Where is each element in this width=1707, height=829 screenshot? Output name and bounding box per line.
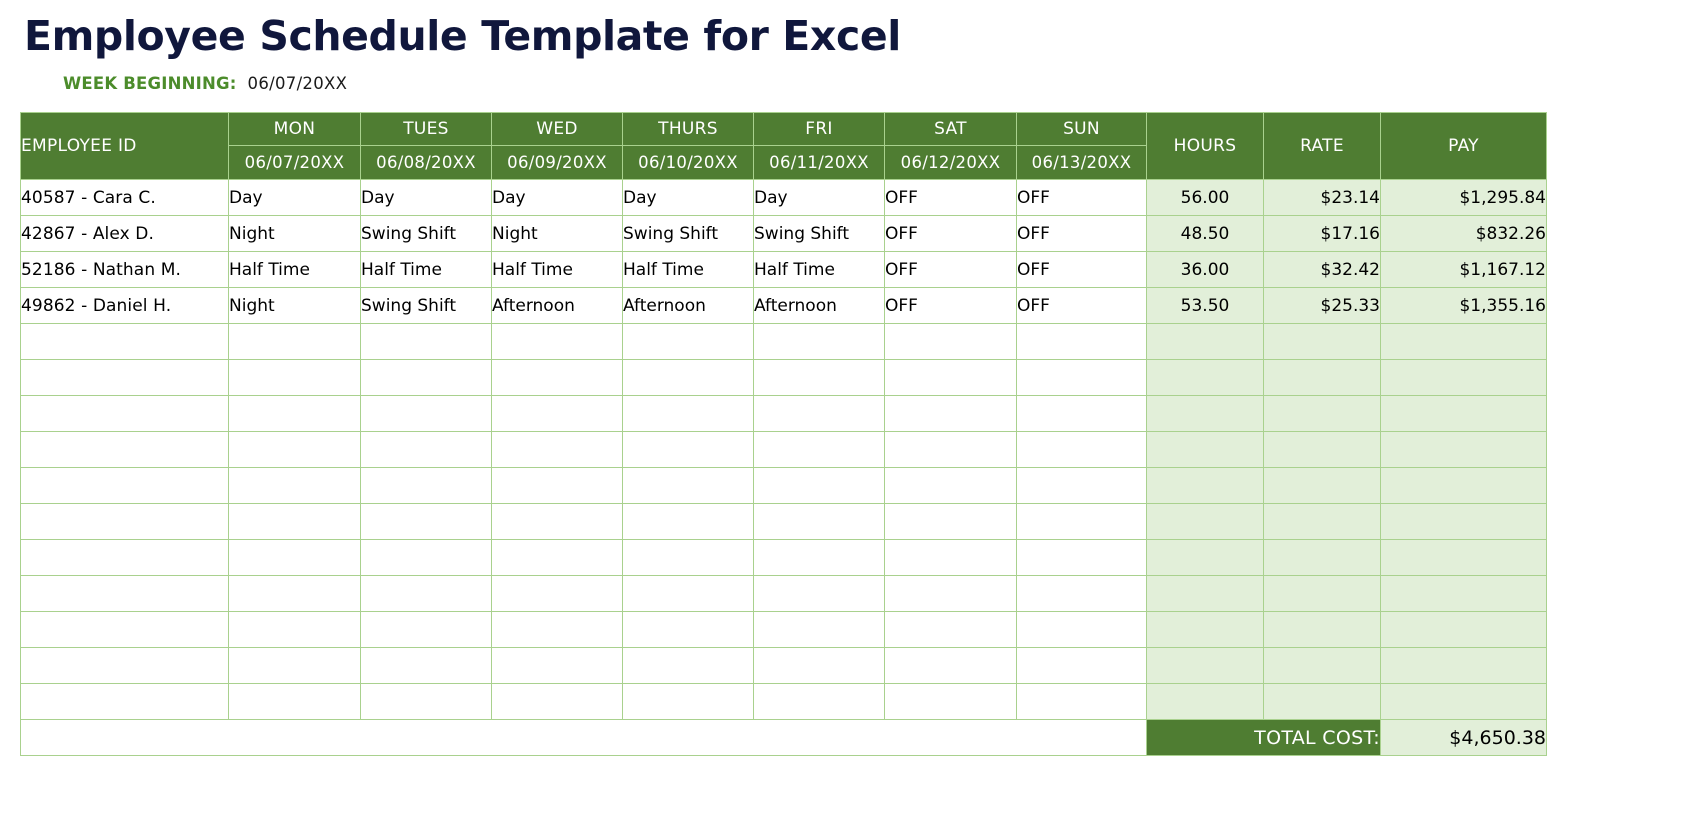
cell-pay: $1,167.12 bbox=[1381, 252, 1547, 288]
cell-employee-id[interactable]: 42867 - Alex D. bbox=[21, 216, 229, 252]
cell-hours: 36.00 bbox=[1147, 252, 1264, 288]
cell-hours bbox=[1147, 360, 1264, 396]
cell-shift[interactable] bbox=[754, 684, 885, 720]
col-header-date-sun: 06/13/20XX bbox=[1017, 146, 1147, 180]
cell-shift[interactable] bbox=[754, 576, 885, 612]
cell-shift[interactable] bbox=[492, 612, 623, 648]
cell-employee-id[interactable] bbox=[21, 360, 229, 396]
cell-shift[interactable]: Swing Shift bbox=[361, 288, 492, 324]
cell-shift[interactable] bbox=[1017, 468, 1147, 504]
cell-shift[interactable]: Night bbox=[229, 216, 361, 252]
cell-shift[interactable] bbox=[885, 612, 1017, 648]
cell-pay bbox=[1381, 468, 1547, 504]
cell-hours bbox=[1147, 684, 1264, 720]
cell-shift[interactable] bbox=[361, 648, 492, 684]
cell-shift[interactable] bbox=[1017, 324, 1147, 360]
cell-pay bbox=[1381, 576, 1547, 612]
cell-hours bbox=[1147, 648, 1264, 684]
cell-rate[interactable]: $17.16 bbox=[1264, 216, 1381, 252]
cell-rate[interactable]: $32.42 bbox=[1264, 252, 1381, 288]
cell-shift[interactable] bbox=[623, 504, 754, 540]
cell-shift[interactable] bbox=[1017, 612, 1147, 648]
table-row: 49862 - Daniel H.NightSwing ShiftAfterno… bbox=[21, 288, 1547, 324]
cell-shift[interactable]: Day bbox=[229, 180, 361, 216]
cell-shift[interactable] bbox=[885, 468, 1017, 504]
cell-shift[interactable] bbox=[1017, 504, 1147, 540]
cell-shift[interactable] bbox=[229, 612, 361, 648]
cell-shift[interactable] bbox=[229, 576, 361, 612]
col-header-hours: HOURS bbox=[1147, 113, 1264, 180]
cell-shift[interactable] bbox=[1017, 684, 1147, 720]
col-header-date-thurs: 06/10/20XX bbox=[623, 146, 754, 180]
cell-shift[interactable]: Swing Shift bbox=[623, 216, 754, 252]
cell-shift[interactable] bbox=[492, 576, 623, 612]
schedule-table: EMPLOYEE ID MON TUES WED THURS FRI SAT S… bbox=[20, 112, 1547, 756]
cell-shift[interactable] bbox=[229, 540, 361, 576]
cell-shift[interactable] bbox=[754, 396, 885, 432]
cell-shift[interactable] bbox=[754, 540, 885, 576]
cell-shift[interactable] bbox=[623, 396, 754, 432]
cell-shift[interactable] bbox=[885, 396, 1017, 432]
cell-rate[interactable] bbox=[1264, 648, 1381, 684]
col-header-employee-id: EMPLOYEE ID bbox=[21, 113, 229, 180]
cell-shift[interactable] bbox=[754, 324, 885, 360]
col-header-date-mon: 06/07/20XX bbox=[229, 146, 361, 180]
cell-shift[interactable] bbox=[885, 684, 1017, 720]
cell-hours bbox=[1147, 504, 1264, 540]
cell-employee-id[interactable] bbox=[21, 432, 229, 468]
table-row bbox=[21, 432, 1547, 468]
cell-shift[interactable] bbox=[623, 540, 754, 576]
cell-shift[interactable]: Swing Shift bbox=[754, 216, 885, 252]
cell-shift[interactable] bbox=[754, 468, 885, 504]
cell-rate[interactable]: $23.14 bbox=[1264, 180, 1381, 216]
table-row bbox=[21, 648, 1547, 684]
cell-shift[interactable] bbox=[361, 468, 492, 504]
cell-shift[interactable] bbox=[1017, 648, 1147, 684]
cell-shift[interactable]: Half Time bbox=[754, 252, 885, 288]
cell-hours: 53.50 bbox=[1147, 288, 1264, 324]
cell-shift[interactable] bbox=[492, 324, 623, 360]
cell-hours bbox=[1147, 432, 1264, 468]
table-row bbox=[21, 396, 1547, 432]
cell-shift[interactable]: OFF bbox=[1017, 216, 1147, 252]
col-header-date-fri: 06/11/20XX bbox=[754, 146, 885, 180]
cell-shift[interactable] bbox=[1017, 540, 1147, 576]
cell-rate[interactable] bbox=[1264, 504, 1381, 540]
col-header-day-tues: TUES bbox=[361, 113, 492, 146]
page-title: Employee Schedule Template for Excel bbox=[24, 12, 901, 60]
total-cost-row: TOTAL COST: $4,650.38 bbox=[21, 720, 1547, 756]
cell-shift[interactable] bbox=[1017, 396, 1147, 432]
cell-pay bbox=[1381, 324, 1547, 360]
cell-shift[interactable]: Half Time bbox=[229, 252, 361, 288]
cell-hours bbox=[1147, 576, 1264, 612]
cell-shift[interactable] bbox=[361, 324, 492, 360]
cell-shift[interactable] bbox=[361, 540, 492, 576]
cell-shift[interactable]: OFF bbox=[1017, 180, 1147, 216]
cell-pay bbox=[1381, 504, 1547, 540]
cell-shift[interactable]: OFF bbox=[1017, 288, 1147, 324]
cell-shift[interactable] bbox=[885, 432, 1017, 468]
cell-shift[interactable] bbox=[229, 468, 361, 504]
cell-shift[interactable] bbox=[623, 576, 754, 612]
header-row-names: EMPLOYEE ID MON TUES WED THURS FRI SAT S… bbox=[21, 113, 1547, 146]
cell-shift[interactable]: Day bbox=[754, 180, 885, 216]
cell-pay: $832.26 bbox=[1381, 216, 1547, 252]
cell-rate[interactable] bbox=[1264, 468, 1381, 504]
cell-hours bbox=[1147, 324, 1264, 360]
cell-shift[interactable] bbox=[885, 576, 1017, 612]
cell-employee-id[interactable] bbox=[21, 396, 229, 432]
page-root: Employee Schedule Template for Excel WEE… bbox=[0, 0, 1707, 829]
cell-shift[interactable] bbox=[229, 432, 361, 468]
table-row bbox=[21, 504, 1547, 540]
cell-shift[interactable]: Day bbox=[492, 180, 623, 216]
cell-shift[interactable]: Day bbox=[361, 180, 492, 216]
week-beginning: WEEK BEGINNING:06/07/20XX bbox=[63, 74, 347, 93]
table-row bbox=[21, 684, 1547, 720]
cell-pay bbox=[1381, 648, 1547, 684]
cell-employee-id[interactable] bbox=[21, 540, 229, 576]
table-row bbox=[21, 468, 1547, 504]
cell-shift[interactable] bbox=[754, 504, 885, 540]
cell-shift[interactable] bbox=[754, 432, 885, 468]
cell-hours bbox=[1147, 468, 1264, 504]
cell-rate[interactable] bbox=[1264, 540, 1381, 576]
cell-shift[interactable] bbox=[361, 576, 492, 612]
cell-hours: 48.50 bbox=[1147, 216, 1264, 252]
cell-shift[interactable]: Afternoon bbox=[623, 288, 754, 324]
col-header-day-fri: FRI bbox=[754, 113, 885, 146]
cell-employee-id[interactable] bbox=[21, 612, 229, 648]
cell-shift[interactable]: OFF bbox=[885, 180, 1017, 216]
cell-shift[interactable] bbox=[623, 360, 754, 396]
cell-shift[interactable] bbox=[1017, 576, 1147, 612]
cell-hours bbox=[1147, 612, 1264, 648]
cell-rate[interactable] bbox=[1264, 684, 1381, 720]
cell-shift[interactable] bbox=[1017, 360, 1147, 396]
cell-rate[interactable]: $25.33 bbox=[1264, 288, 1381, 324]
cell-shift[interactable] bbox=[623, 684, 754, 720]
table-row bbox=[21, 324, 1547, 360]
col-header-day-mon: MON bbox=[229, 113, 361, 146]
cell-shift[interactable] bbox=[361, 360, 492, 396]
cell-shift[interactable]: Afternoon bbox=[754, 288, 885, 324]
cell-shift[interactable] bbox=[623, 432, 754, 468]
table-body: 40587 - Cara C.DayDayDayDayDayOFFOFF56.0… bbox=[21, 180, 1547, 720]
table-row bbox=[21, 360, 1547, 396]
cell-shift[interactable] bbox=[623, 468, 754, 504]
cell-shift[interactable]: OFF bbox=[1017, 252, 1147, 288]
cell-shift[interactable] bbox=[361, 396, 492, 432]
cell-employee-id[interactable]: 52186 - Nathan M. bbox=[21, 252, 229, 288]
col-header-day-thurs: THURS bbox=[623, 113, 754, 146]
cell-shift[interactable] bbox=[623, 324, 754, 360]
cell-shift[interactable] bbox=[361, 612, 492, 648]
cell-hours: 56.00 bbox=[1147, 180, 1264, 216]
table-row: 42867 - Alex D.NightSwing ShiftNightSwin… bbox=[21, 216, 1547, 252]
table-row: 40587 - Cara C.DayDayDayDayDayOFFOFF56.0… bbox=[21, 180, 1547, 216]
cell-shift[interactable] bbox=[754, 648, 885, 684]
schedule-sheet: EMPLOYEE ID MON TUES WED THURS FRI SAT S… bbox=[20, 112, 1546, 756]
cell-shift[interactable] bbox=[361, 504, 492, 540]
col-header-day-sat: SAT bbox=[885, 113, 1017, 146]
col-header-day-wed: WED bbox=[492, 113, 623, 146]
table-row bbox=[21, 576, 1547, 612]
cell-shift[interactable] bbox=[361, 432, 492, 468]
cell-employee-id[interactable]: 40587 - Cara C. bbox=[21, 180, 229, 216]
cell-shift[interactable] bbox=[229, 324, 361, 360]
cell-employee-id[interactable] bbox=[21, 684, 229, 720]
cell-shift[interactable] bbox=[885, 324, 1017, 360]
cell-rate[interactable] bbox=[1264, 324, 1381, 360]
cell-shift[interactable]: Swing Shift bbox=[361, 216, 492, 252]
cell-shift[interactable] bbox=[492, 396, 623, 432]
cell-pay bbox=[1381, 396, 1547, 432]
cell-shift[interactable]: OFF bbox=[885, 252, 1017, 288]
cell-shift[interactable] bbox=[229, 504, 361, 540]
cell-shift[interactable] bbox=[229, 360, 361, 396]
cell-pay bbox=[1381, 612, 1547, 648]
cell-pay bbox=[1381, 360, 1547, 396]
col-header-date-tues: 06/08/20XX bbox=[361, 146, 492, 180]
cell-hours bbox=[1147, 396, 1264, 432]
cell-pay bbox=[1381, 432, 1547, 468]
total-cost-label: TOTAL COST: bbox=[1147, 720, 1381, 756]
cell-shift[interactable] bbox=[492, 540, 623, 576]
table-row: 52186 - Nathan M.Half TimeHalf TimeHalf … bbox=[21, 252, 1547, 288]
cell-shift[interactable] bbox=[885, 504, 1017, 540]
cell-shift[interactable] bbox=[361, 684, 492, 720]
cell-rate[interactable] bbox=[1264, 612, 1381, 648]
cell-rate[interactable] bbox=[1264, 360, 1381, 396]
table-row bbox=[21, 540, 1547, 576]
cell-shift[interactable]: Half Time bbox=[492, 252, 623, 288]
cell-shift[interactable] bbox=[492, 432, 623, 468]
table-row bbox=[21, 612, 1547, 648]
cell-shift[interactable] bbox=[229, 396, 361, 432]
table-footer: TOTAL COST: $4,650.38 bbox=[21, 720, 1547, 756]
cell-employee-id[interactable] bbox=[21, 324, 229, 360]
cell-shift[interactable] bbox=[492, 360, 623, 396]
cell-rate[interactable] bbox=[1264, 576, 1381, 612]
col-header-date-wed: 06/09/20XX bbox=[492, 146, 623, 180]
table-header: EMPLOYEE ID MON TUES WED THURS FRI SAT S… bbox=[21, 113, 1547, 180]
col-header-pay: PAY bbox=[1381, 113, 1547, 180]
cell-rate[interactable] bbox=[1264, 396, 1381, 432]
col-header-day-sun: SUN bbox=[1017, 113, 1147, 146]
cell-shift[interactable]: Night bbox=[492, 216, 623, 252]
total-cost-value: $4,650.38 bbox=[1381, 720, 1547, 756]
cell-shift[interactable]: OFF bbox=[885, 216, 1017, 252]
cell-shift[interactable] bbox=[754, 612, 885, 648]
cell-shift[interactable] bbox=[492, 648, 623, 684]
cell-shift[interactable]: Day bbox=[623, 180, 754, 216]
cell-pay bbox=[1381, 684, 1547, 720]
col-header-date-sat: 06/12/20XX bbox=[885, 146, 1017, 180]
cell-employee-id[interactable] bbox=[21, 576, 229, 612]
week-beginning-label: WEEK BEGINNING: bbox=[63, 74, 237, 93]
cell-shift[interactable] bbox=[492, 684, 623, 720]
cell-pay: $1,355.16 bbox=[1381, 288, 1547, 324]
cell-shift[interactable] bbox=[885, 540, 1017, 576]
total-row-blank bbox=[21, 720, 1147, 756]
cell-shift[interactable]: Half Time bbox=[361, 252, 492, 288]
week-beginning-value[interactable]: 06/07/20XX bbox=[248, 74, 348, 93]
cell-employee-id[interactable] bbox=[21, 468, 229, 504]
cell-pay: $1,295.84 bbox=[1381, 180, 1547, 216]
cell-employee-id[interactable]: 49862 - Daniel H. bbox=[21, 288, 229, 324]
cell-employee-id[interactable] bbox=[21, 504, 229, 540]
cell-shift[interactable] bbox=[1017, 432, 1147, 468]
cell-shift[interactable] bbox=[229, 648, 361, 684]
cell-shift[interactable] bbox=[623, 648, 754, 684]
cell-shift[interactable] bbox=[623, 612, 754, 648]
cell-hours bbox=[1147, 540, 1264, 576]
cell-rate[interactable] bbox=[1264, 432, 1381, 468]
col-header-rate: RATE bbox=[1264, 113, 1381, 180]
cell-shift[interactable] bbox=[229, 684, 361, 720]
cell-shift[interactable]: Night bbox=[229, 288, 361, 324]
cell-shift[interactable]: OFF bbox=[885, 288, 1017, 324]
cell-shift[interactable] bbox=[492, 468, 623, 504]
cell-shift[interactable] bbox=[885, 648, 1017, 684]
cell-shift[interactable] bbox=[492, 504, 623, 540]
cell-shift[interactable] bbox=[885, 360, 1017, 396]
cell-shift[interactable]: Afternoon bbox=[492, 288, 623, 324]
cell-shift[interactable] bbox=[754, 360, 885, 396]
cell-employee-id[interactable] bbox=[21, 648, 229, 684]
cell-shift[interactable]: Half Time bbox=[623, 252, 754, 288]
cell-pay bbox=[1381, 540, 1547, 576]
